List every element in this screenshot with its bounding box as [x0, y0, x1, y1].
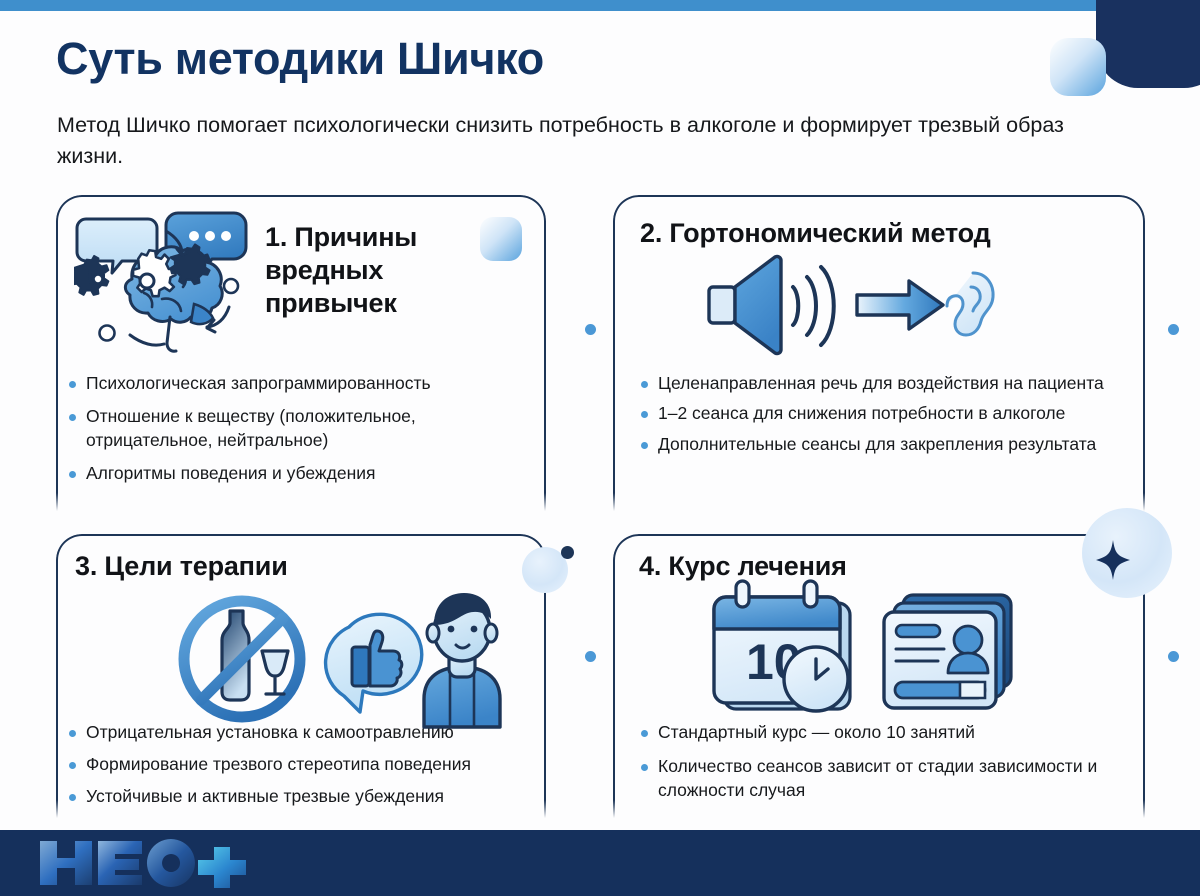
speaker-to-ear-icon: [701, 251, 1001, 361]
list-item: Устойчивые и активные трезвые убеждения: [67, 785, 537, 809]
list-item: Алгоритмы поведения и убеждения: [67, 462, 535, 486]
decorative-navy-blob: [1096, 0, 1200, 88]
list-item: Дополнительные сеансы для закрепления ре…: [639, 433, 1125, 456]
no-alcohol-thumbsup-icon: [174, 589, 504, 729]
sparkle-icon: [1096, 540, 1130, 580]
top-accent-strip: [0, 0, 1200, 11]
page-subtitle: Метод Шичко помогает психологически сниз…: [57, 110, 1097, 171]
card-accent-dot: [1168, 324, 1179, 335]
brand-logo: [36, 837, 276, 889]
decorative-gradient-square: [480, 217, 522, 261]
calendar-cards-icon: 10: [698, 579, 1018, 729]
card-bullet-list: Стандартный курс — около 10 занятий Коли…: [639, 721, 1125, 802]
card-title: 1. Причины вредных привычек: [265, 221, 495, 320]
card-bullet-list: Отрицательная установка к самоотравлению…: [67, 721, 537, 808]
card-title: 2. Гортономический метод: [640, 217, 1130, 249]
list-item: Стандартный курс — около 10 занятий: [639, 721, 1125, 745]
card-hortonomic-method: 2. Гортономический метод: [613, 195, 1145, 515]
card-accent-dot: [585, 324, 596, 335]
card-title: 3. Цели терапии: [75, 550, 495, 582]
brain-gears-icon: [74, 207, 264, 357]
list-item: Отрицательная установка к самоотравлению: [67, 721, 537, 745]
footer-bar: [0, 830, 1200, 896]
list-item: Психологическая запрограммированность: [67, 372, 535, 396]
card-title: 4. Курс лечения: [639, 550, 1059, 582]
decorative-navy-dot: [561, 546, 574, 559]
list-item: Целенаправленная речь для воздействия на…: [639, 372, 1125, 395]
list-item: Количество сеансов зависит от стадии зав…: [639, 755, 1125, 803]
list-item: 1–2 сеанса для снижения потребности в ал…: [639, 402, 1125, 425]
card-bullet-list: Психологическая запрограммированность От…: [67, 372, 535, 486]
card-bullet-list: Целенаправленная речь для воздействия на…: [639, 372, 1125, 456]
card-therapy-goals: 3. Цели терапии: [56, 534, 546, 822]
card-accent-dot: [585, 651, 596, 662]
page-title: Суть методики Шичко: [56, 33, 544, 85]
card-causes: 1. Причины вредных привычек Психологичес…: [56, 195, 546, 515]
list-item: Отношение к веществу (положительное, отр…: [67, 405, 535, 453]
decorative-gradient-square: [1050, 38, 1106, 96]
list-item: Формирование трезвого стереотипа поведен…: [67, 753, 537, 777]
card-accent-dot: [1168, 651, 1179, 662]
card-treatment-course: 4. Курс лечения: [613, 534, 1145, 822]
infographic-page: Суть методики Шичко Метод Шичко помогает…: [0, 0, 1200, 896]
